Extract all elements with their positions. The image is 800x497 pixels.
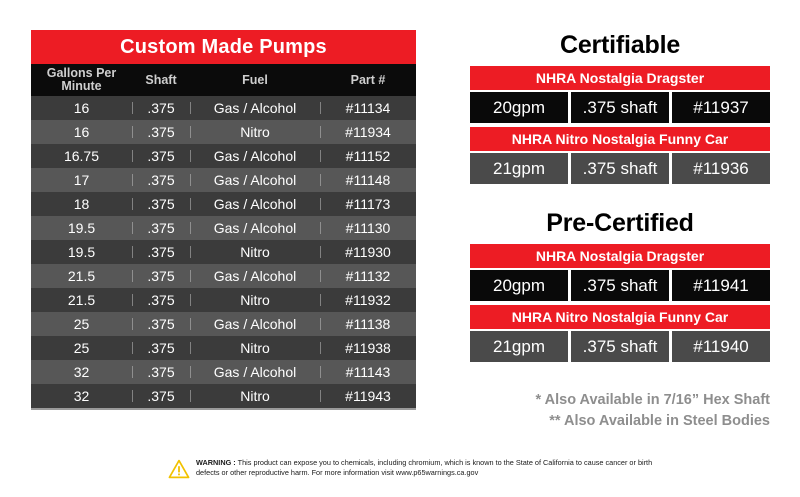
cell-shaft: .375 shaft — [571, 92, 669, 123]
table-row: 17.375Gas / Alcohol#11148 — [31, 168, 416, 192]
cell-shaft: .375 — [132, 148, 190, 164]
table-row: 32.375Nitro#11943 — [31, 384, 416, 408]
cell-fuel: Gas / Alcohol — [190, 268, 320, 284]
table-row: 16.75.375Gas / Alcohol#11152 — [31, 144, 416, 168]
cell-gpm: 21gpm — [470, 153, 568, 184]
table-row: 32.375Gas / Alcohol#11143 — [31, 360, 416, 384]
category-header: NHRA Nostalgia Dragster — [470, 244, 770, 268]
cell-gpm: 16 — [31, 124, 132, 140]
cell-part: #11940 — [672, 331, 770, 362]
spec-row: 20gpm.375 shaft#11937 — [470, 92, 770, 123]
cell-shaft: .375 — [132, 172, 190, 188]
cell-part: #11152 — [320, 148, 416, 164]
cell-part: #11941 — [672, 270, 770, 301]
cell-shaft: .375 — [132, 340, 190, 356]
cell-gpm: 32 — [31, 388, 132, 404]
warning-triangle-icon — [168, 459, 190, 484]
cell-gpm: 32 — [31, 364, 132, 380]
cell-shaft: .375 — [132, 244, 190, 260]
table-row: 21.5.375Gas / Alcohol#11132 — [31, 264, 416, 288]
table-row: 25.375Gas / Alcohol#11138 — [31, 312, 416, 336]
prop65-warning-label: WARNING : — [196, 458, 236, 467]
cell-shaft: .375 — [132, 292, 190, 308]
cell-gpm: 19.5 — [31, 220, 132, 236]
table-row: 19.5.375Gas / Alcohol#11130 — [31, 216, 416, 240]
cell-shaft: .375 — [132, 220, 190, 236]
spec-row: 21gpm.375 shaft#11940 — [470, 331, 770, 362]
table-row: 19.5.375Nitro#11930 — [31, 240, 416, 264]
certifiable-table: NHRA Nostalgia Dragster20gpm.375 shaft#1… — [470, 66, 770, 184]
cell-part: #11143 — [320, 364, 416, 380]
cell-shaft: .375 — [132, 196, 190, 212]
cell-fuel: Nitro — [190, 244, 320, 260]
prop65-warning: WARNING : This product can expose you to… — [168, 458, 676, 484]
cell-fuel: Gas / Alcohol — [190, 100, 320, 116]
pumps-table-header-row: Gallons PerMinute Shaft Fuel Part # — [31, 64, 416, 96]
table-row: 16.375Nitro#11934 — [31, 120, 416, 144]
cell-part: #11932 — [320, 292, 416, 308]
cell-gpm: 16.75 — [31, 148, 132, 164]
cell-gpm: 21.5 — [31, 292, 132, 308]
cell-fuel: Gas / Alcohol — [190, 148, 320, 164]
column-header-shaft: Shaft — [132, 74, 190, 87]
cell-part: #11930 — [320, 244, 416, 260]
table-row: 21.5.375Nitro#11932 — [31, 288, 416, 312]
cell-part: #11173 — [320, 196, 416, 212]
cell-part: #11130 — [320, 220, 416, 236]
cell-gpm: 21.5 — [31, 268, 132, 284]
column-header-part: Part # — [320, 74, 416, 87]
cell-shaft: .375 shaft — [571, 270, 669, 301]
table-row: 18.375Gas / Alcohol#11173 — [31, 192, 416, 216]
table-row: 16.375Gas / Alcohol#11134 — [31, 96, 416, 120]
cell-shaft: .375 shaft — [571, 331, 669, 362]
cell-part: #11134 — [320, 100, 416, 116]
cell-shaft: .375 shaft — [571, 153, 669, 184]
cell-gpm: 20gpm — [470, 270, 568, 301]
footnotes: * Also Available in 7/16” Hex Shaft ** A… — [470, 390, 770, 432]
cell-fuel: Nitro — [190, 340, 320, 356]
cell-part: #11148 — [320, 172, 416, 188]
cell-gpm: 25 — [31, 316, 132, 332]
cell-shaft: .375 — [132, 388, 190, 404]
custom-made-pumps-panel: Custom Made Pumps Gallons PerMinute Shaf… — [31, 30, 416, 410]
footnote-hex-shaft: * Also Available in 7/16” Hex Shaft — [470, 390, 770, 411]
footnote-steel-bodies: ** Also Available in Steel Bodies — [470, 411, 770, 432]
cell-gpm: 17 — [31, 172, 132, 188]
category-header: NHRA Nitro Nostalgia Funny Car — [470, 127, 770, 151]
pumps-table-body: 16.375Gas / Alcohol#1113416.375Nitro#119… — [31, 96, 416, 410]
prop65-warning-text: WARNING : This product can expose you to… — [196, 458, 676, 478]
cell-gpm: 25 — [31, 340, 132, 356]
cell-part: #11938 — [320, 340, 416, 356]
cell-fuel: Gas / Alcohol — [190, 172, 320, 188]
column-header-gallons-per-minute: Gallons PerMinute — [31, 67, 132, 93]
precertified-heading: Pre-Certified — [470, 208, 770, 238]
cell-fuel: Gas / Alcohol — [190, 364, 320, 380]
cell-gpm: 16 — [31, 100, 132, 116]
cell-gpm: 19.5 — [31, 244, 132, 260]
cell-part: #11132 — [320, 268, 416, 284]
prop65-warning-body: This product can expose you to chemicals… — [196, 458, 652, 477]
spec-row: 21gpm.375 shaft#11936 — [470, 153, 770, 184]
cell-fuel: Gas / Alcohol — [190, 196, 320, 212]
cell-gpm: 18 — [31, 196, 132, 212]
spec-row: 20gpm.375 shaft#11941 — [470, 270, 770, 301]
cell-shaft: .375 — [132, 124, 190, 140]
category-header: NHRA Nostalgia Dragster — [470, 66, 770, 90]
cell-gpm: 20gpm — [470, 92, 568, 123]
cell-shaft: .375 — [132, 364, 190, 380]
cell-fuel: Nitro — [190, 292, 320, 308]
cell-fuel: Nitro — [190, 388, 320, 404]
certifiable-panel: Certifiable NHRA Nostalgia Dragster20gpm… — [470, 30, 770, 184]
cell-part: #11934 — [320, 124, 416, 140]
column-header-fuel: Fuel — [190, 74, 320, 87]
cell-part: #11937 — [672, 92, 770, 123]
certifiable-heading: Certifiable — [470, 30, 770, 60]
cell-fuel: Gas / Alcohol — [190, 316, 320, 332]
cell-part: #11943 — [320, 388, 416, 404]
cell-gpm: 21gpm — [470, 331, 568, 362]
cell-shaft: .375 — [132, 268, 190, 284]
cell-fuel: Nitro — [190, 124, 320, 140]
table-row: 25.375Nitro#11938 — [31, 336, 416, 360]
category-header: NHRA Nitro Nostalgia Funny Car — [470, 305, 770, 329]
cell-fuel: Gas / Alcohol — [190, 220, 320, 236]
precertified-panel: Pre-Certified NHRA Nostalgia Dragster20g… — [470, 208, 770, 362]
cell-part: #11936 — [672, 153, 770, 184]
pumps-table-title: Custom Made Pumps — [31, 30, 416, 64]
precertified-table: NHRA Nostalgia Dragster20gpm.375 shaft#1… — [470, 244, 770, 362]
cell-part: #11138 — [320, 316, 416, 332]
cell-shaft: .375 — [132, 100, 190, 116]
cell-shaft: .375 — [132, 316, 190, 332]
